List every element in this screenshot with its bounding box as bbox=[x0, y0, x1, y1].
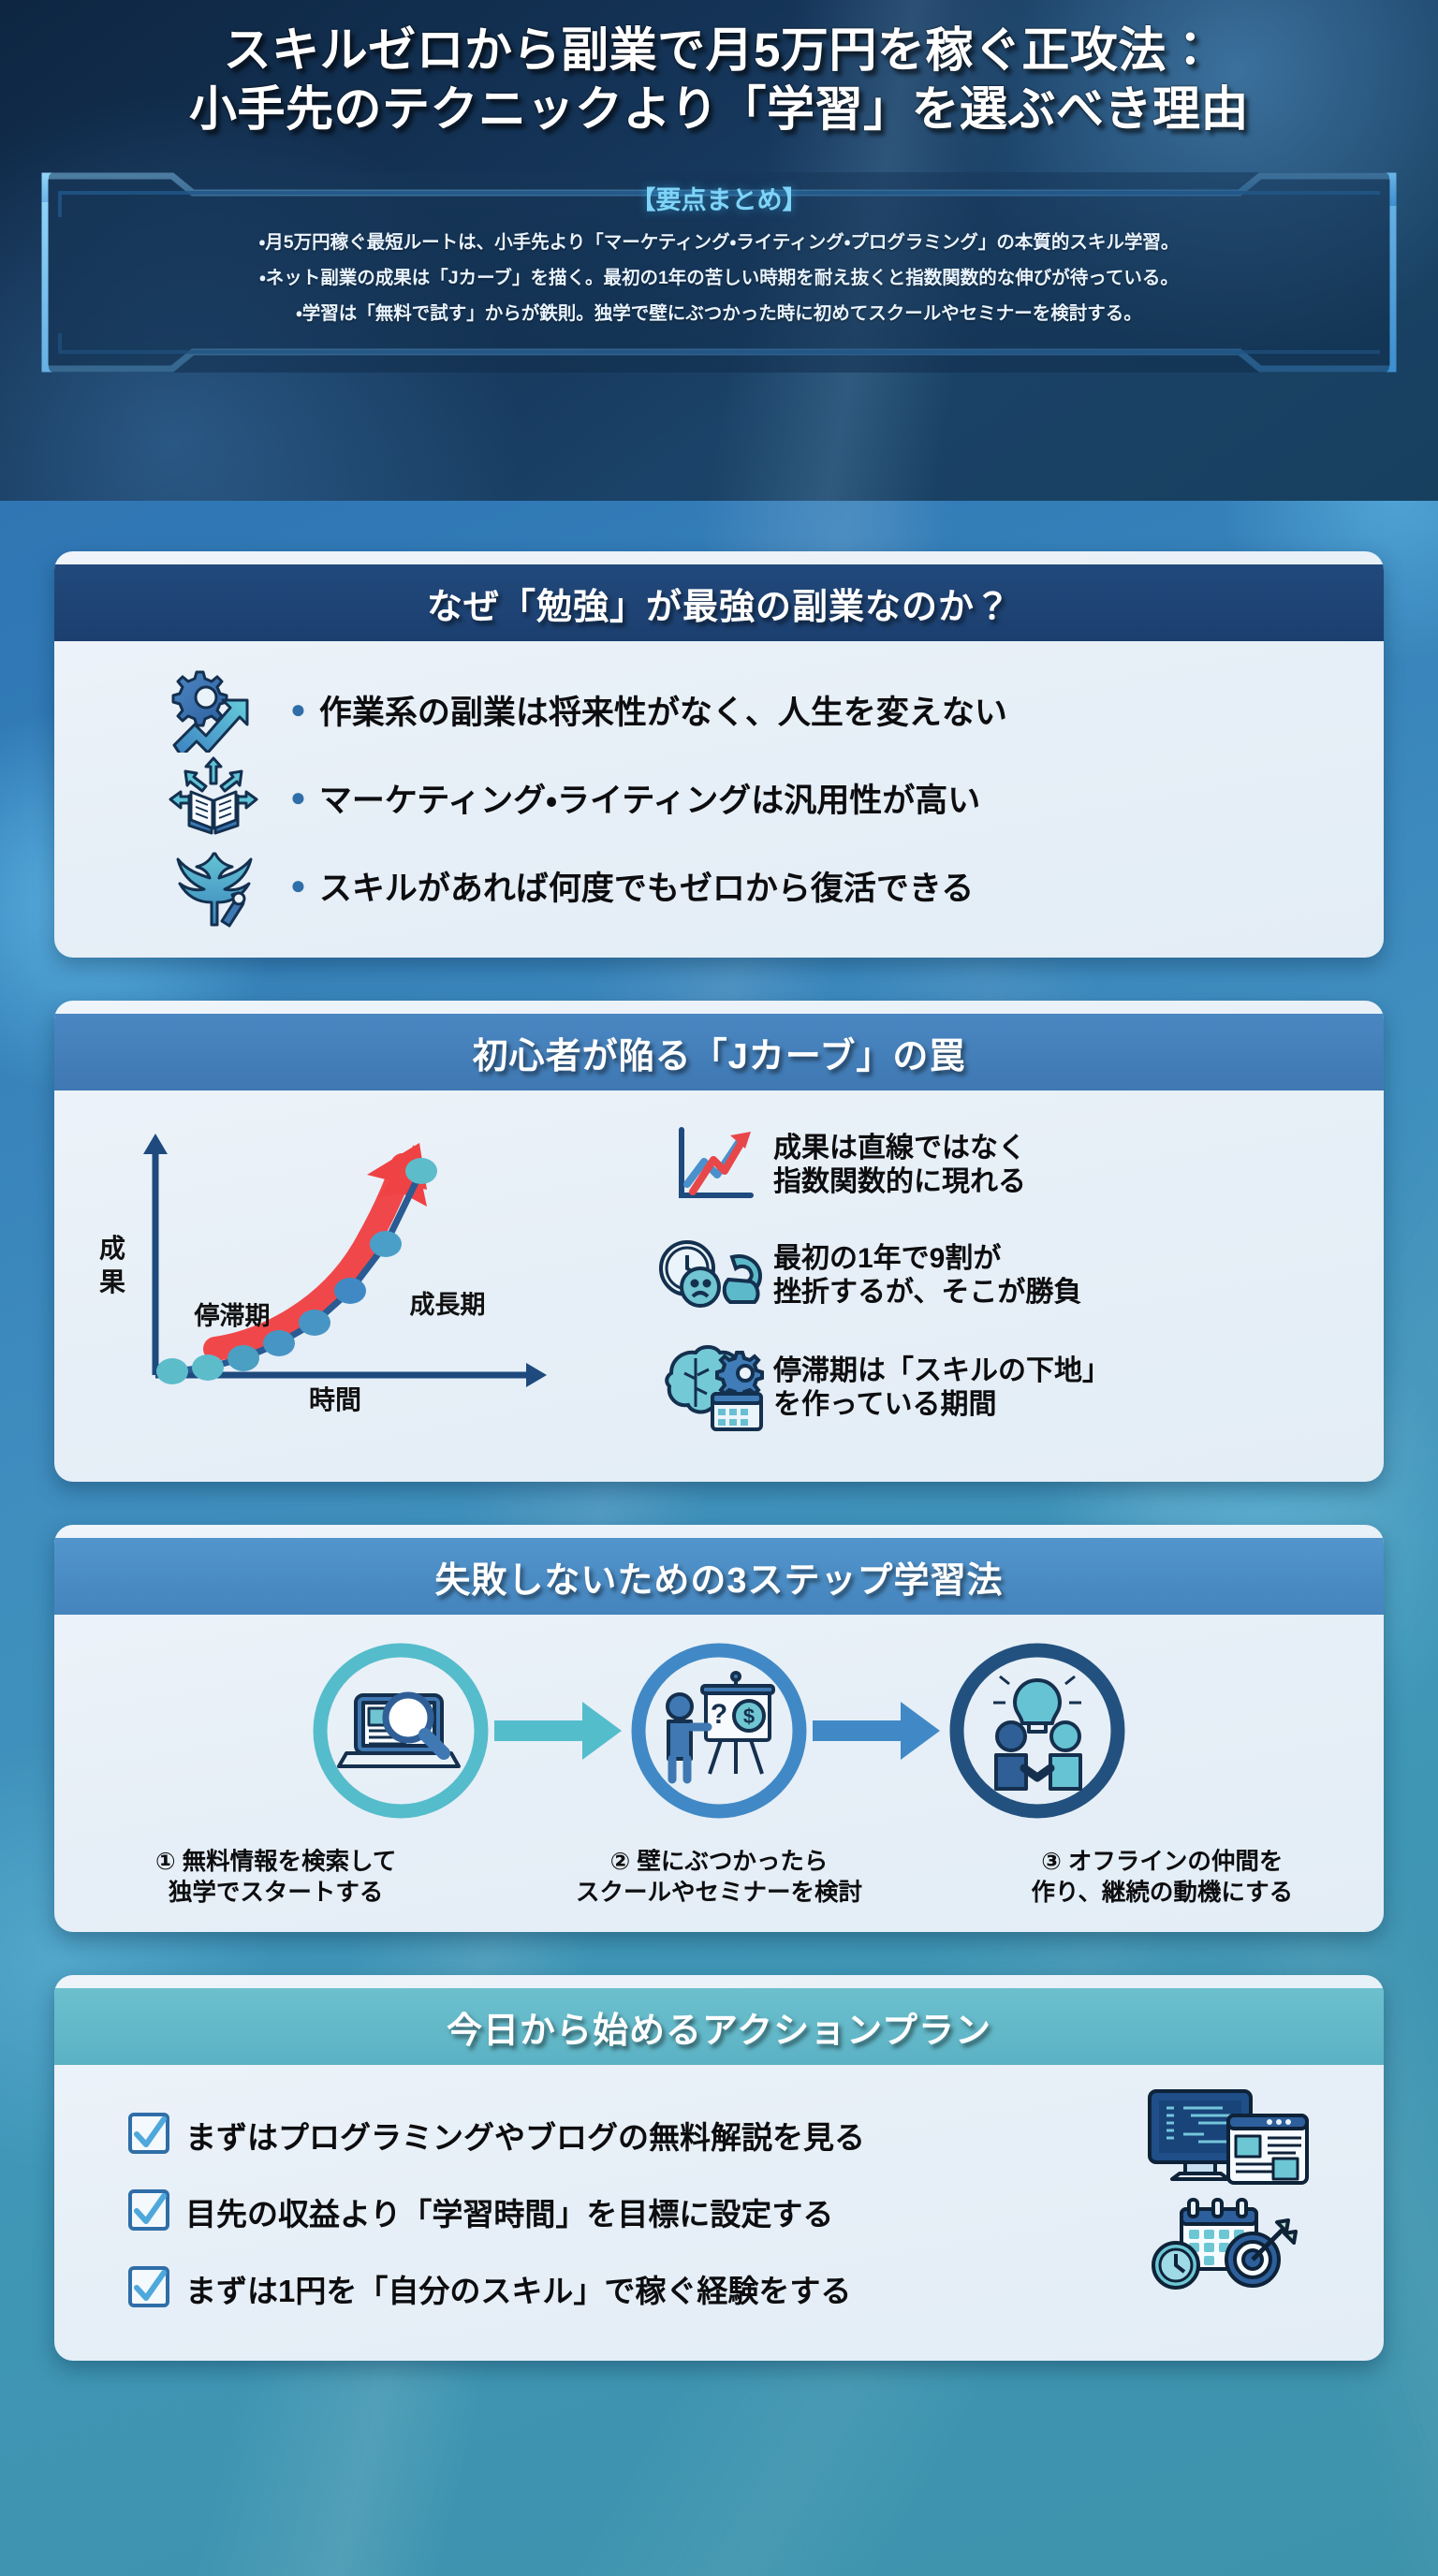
card-action-plan: 今日から始めるアクションプラン まずはプログラミングやブログの無料解説を見る bbox=[54, 1975, 1384, 2361]
step-circle-2: $ ? bbox=[625, 1637, 813, 1824]
card-three-steps: 失敗しないための3ステップ学習法 bbox=[54, 1525, 1384, 1932]
step-captions: ① 無料情報を検索して独学でスタートする ② 壁にぶつかったらスクールやセミナー… bbox=[54, 1847, 1384, 1908]
checkbox-checked-icon[interactable] bbox=[127, 2188, 185, 2236]
bullet-dot: ● bbox=[290, 872, 306, 899]
jcurve-chart: 成 果 時間 停滞期 成長期 bbox=[54, 1107, 653, 1457]
section4-body: まずはプログラミングやブログの無料解説を見る 目先の収益より「学習時間」を目標に… bbox=[54, 2065, 1384, 2361]
section3-heading: 失敗しないための3ステップ学習法 bbox=[54, 1538, 1384, 1615]
page-title: スキルゼロから副業で月5万円を稼ぐ正攻法： 小手先のテクニックより「学習」を選ぶ… bbox=[0, 0, 1438, 139]
list-item: ● マーケティング・ライティングは汎用性が高い bbox=[54, 754, 1384, 842]
summary-box: 【要点まとめ】 ・月5万円稼ぐ最短ルートは、小手先より「マーケティング・ライティ… bbox=[32, 165, 1406, 380]
list-item: 停滞期は「スキルの下地」 を作っている期間 bbox=[653, 1343, 1365, 1433]
section4-heading: 今日から始めるアクションプラン bbox=[54, 1988, 1384, 2065]
list-item-label: 停滞期は「スキルの下地」 を作っている期間 bbox=[773, 1354, 1110, 1422]
card-jcurve: 初心者が陥る「Jカーブ」の罠 bbox=[54, 1001, 1384, 1482]
section2-body: 成 果 時間 停滞期 成長期 bbox=[54, 1090, 1384, 1482]
list-item: 最初の1年で9割が 挫折するが、そこが勝負 bbox=[653, 1233, 1365, 1319]
step-flow: $ ? bbox=[54, 1637, 1384, 1824]
step-caption: ② 壁にぶつかったらスクールやセミナーを検討 bbox=[497, 1847, 940, 1908]
list-item-label: マーケティング・ライティングは汎用性が高い bbox=[319, 774, 980, 822]
summary-item: ・月5万円稼ぐ最短ルートは、小手先より「マーケティング・ライティング・プログラミ… bbox=[64, 226, 1374, 261]
line-chart-up-icon bbox=[653, 1122, 773, 1208]
summary-item: ・学習は「無料で試す」からが鉄則。独学で壁にぶつかった時に初めてスクールやセミナ… bbox=[64, 297, 1374, 332]
x-axis-arrowhead bbox=[526, 1363, 547, 1387]
list-item: ● 作業系の副業は将来性がなく、人生を変えない bbox=[54, 666, 1384, 754]
jcurve-chart-svg: 成 果 時間 停滞期 成長期 bbox=[54, 1107, 653, 1416]
flow-arrow-1-icon bbox=[494, 1698, 625, 1764]
chart-xlabel: 時間 bbox=[309, 1385, 361, 1414]
flow-arrow-2-icon bbox=[813, 1698, 944, 1764]
svg-text:$: $ bbox=[743, 1705, 755, 1728]
checklist-label: 目先の収益より「学習時間」を目標に設定する bbox=[185, 2189, 833, 2234]
step-circle-1 bbox=[307, 1637, 494, 1824]
page-title-line2: 小手先のテクニックより「学習」を選ぶべき理由 bbox=[0, 80, 1438, 139]
section3-body: $ ? bbox=[54, 1615, 1384, 1932]
summary-heading: 【要点まとめ】 bbox=[32, 165, 1406, 216]
step-circle-3 bbox=[944, 1637, 1131, 1824]
section2-points: 成果は直線ではなく 指数関数的に現れる bbox=[653, 1107, 1384, 1457]
list-item-label: 作業系の副業は将来性がなく、人生を変えない bbox=[319, 686, 1007, 734]
checkbox-checked-icon[interactable] bbox=[127, 2265, 185, 2313]
section2-heading: 初心者が陥る「Jカーブ」の罠 bbox=[54, 1014, 1384, 1090]
phoenix-wrench-icon bbox=[159, 841, 268, 930]
checkbox-checked-icon[interactable] bbox=[127, 2112, 185, 2159]
svg-text:?: ? bbox=[711, 1699, 727, 1730]
bullet-dot: ● bbox=[290, 696, 306, 723]
clock-sad-muscle-icon bbox=[653, 1233, 773, 1319]
section1-body: ● 作業系の副業は将来性がなく、人生を変えない bbox=[54, 641, 1384, 958]
chart-ylabel-char1: 成 bbox=[99, 1234, 125, 1263]
card-why-study: なぜ「勉強」が最強の副業なのか？ bbox=[54, 551, 1384, 958]
section1-heading: なぜ「勉強」が最強の副業なのか？ bbox=[54, 564, 1384, 641]
summary-list: ・月5万円稼ぐ最短ルートは、小手先より「マーケティング・ライティング・プログラミ… bbox=[32, 216, 1406, 331]
open-book-arrows-icon bbox=[159, 754, 268, 841]
list-item: ● スキルがあれば何度でもゼロから復活できる bbox=[54, 842, 1384, 929]
chart-ylabel-char2: 果 bbox=[99, 1267, 125, 1296]
step-caption: ① 無料情報を検索して独学でスタートする bbox=[54, 1847, 497, 1908]
page-title-line1: スキルゼロから副業で月5万円を稼ぐ正攻法： bbox=[0, 21, 1438, 80]
chart-annotation-right: 成長期 bbox=[410, 1291, 486, 1319]
list-item-label: 最初の1年で9割が 挫折するが、そこが勝負 bbox=[773, 1242, 1081, 1310]
gear-growth-arrow-icon bbox=[159, 666, 268, 753]
laptop-search-icon bbox=[339, 1695, 459, 1766]
monitor-calendar-target-icon bbox=[1127, 2082, 1361, 2320]
presenter-question-icon: $ ? bbox=[668, 1673, 773, 1779]
list-item: 成果は直線ではなく 指数関数的に現れる bbox=[653, 1122, 1365, 1208]
hero-banner: スキルゼロから副業で月5万円を稼ぐ正攻法： 小手先のテクニックより「学習」を選ぶ… bbox=[0, 0, 1438, 501]
checklist-label: まずはプログラミングやブログの無料解説を見る bbox=[185, 2113, 865, 2158]
list-item-label: 成果は直線ではなく 指数関数的に現れる bbox=[773, 1132, 1026, 1199]
list-item-label: スキルがあれば何度でもゼロから復活できる bbox=[319, 862, 974, 910]
brain-gear-calendar-icon bbox=[653, 1343, 773, 1433]
checklist-label: まずは1円を「自分のスキル」で稼ぐ経験をする bbox=[185, 2266, 851, 2311]
step-caption: ③ オフラインの仲間を作り、継続の動機にする bbox=[941, 1847, 1384, 1908]
summary-item: ・ネット副業の成果は「Jカーブ」を描く。最初の1年の苦しい時期を耐え抜くと指数関… bbox=[64, 261, 1374, 297]
bullet-dot: ● bbox=[290, 784, 306, 811]
y-axis-arrowhead bbox=[143, 1134, 168, 1154]
chart-annotation-left: 停滞期 bbox=[194, 1302, 271, 1330]
infographic-page: スキルゼロから副業で月5万円を稼ぐ正攻法： 小手先のテクニックより「学習」を選ぶ… bbox=[0, 0, 1438, 2576]
handshake-idea-icon bbox=[993, 1676, 1081, 1789]
